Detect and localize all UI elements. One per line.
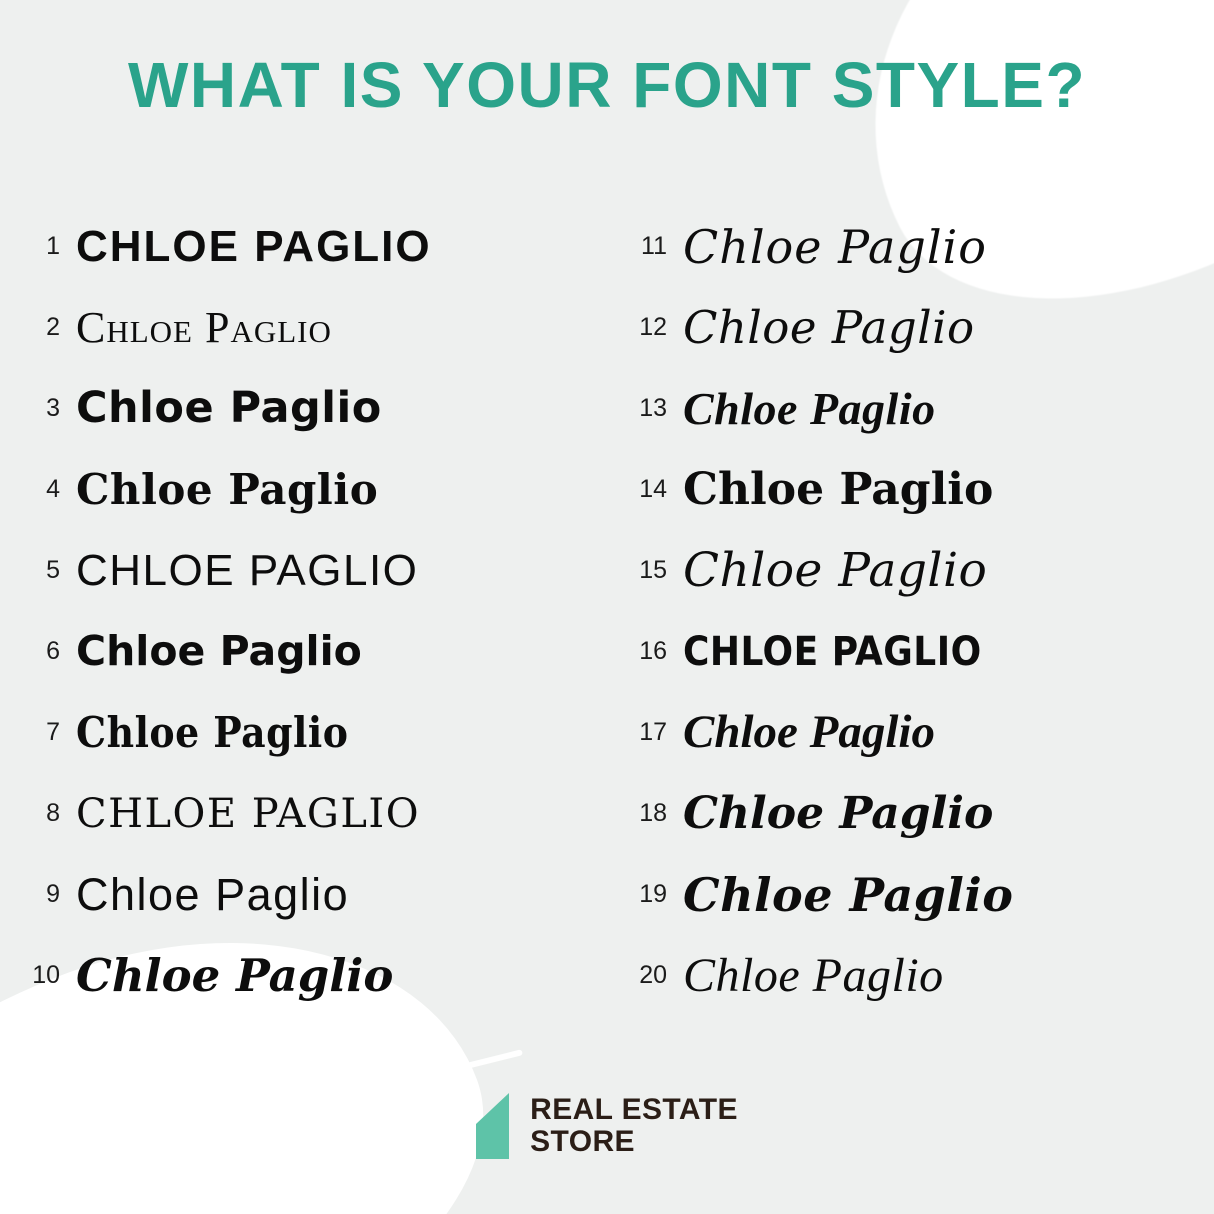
font-style-sample: Chloe Paglio [683,468,1214,512]
font-style-row[interactable]: 15 Chloe Paglio [607,530,1214,611]
font-style-number: 15 [607,558,683,583]
font-style-number: 16 [607,639,683,664]
font-style-sample: Chloe Paglio [76,469,607,511]
font-style-sample: Chloe Paglio [76,387,607,430]
font-style-number: 8 [0,801,76,826]
font-style-row[interactable]: 18 Chloe Paglio [607,773,1214,854]
poster-canvas: WHAT IS YOUR FONT STYLE? 1 CHLOE PAGLIO … [0,0,1214,1214]
font-style-row[interactable]: 2 Chloe Paglio [0,287,607,368]
brand-logo-line-1: REAL ESTATE [530,1094,738,1126]
brand-logo-line-2: STORE [530,1126,738,1158]
font-style-sample: CHLOE PAGLIO [76,225,607,269]
font-style-row[interactable]: 20 Chloe Paglio [607,935,1214,1016]
font-style-row[interactable]: 4 Chloe Paglio [0,449,607,530]
font-style-sample: Chloe Paglio [683,386,1214,432]
font-style-column-left: 1 CHLOE PAGLIO 2 Chloe Paglio 3 Chloe Pa… [0,206,607,1016]
font-style-sample: Chloe Paglio [76,631,607,672]
font-style-number: 5 [0,558,76,583]
font-style-sample: Chloe Paglio [76,872,607,917]
font-style-row[interactable]: 17 Chloe Paglio [607,692,1214,773]
font-style-number: 9 [0,882,76,907]
font-style-row[interactable]: 8 CHLOE PAGLIO [0,773,607,854]
font-style-sample: Chloe Paglio [683,547,1214,594]
font-style-number: 20 [607,963,683,988]
font-style-row[interactable]: 7 Chloe Paglio [0,692,607,773]
poster-title: WHAT IS YOUR FONT STYLE? [0,48,1214,122]
font-style-sample: Chloe Paglio [683,872,1214,918]
font-style-number: 12 [607,315,683,340]
font-style-row[interactable]: 5 CHLOE PAGLIO [0,530,607,611]
font-style-sample: Chloe Paglio [683,224,1214,270]
font-style-sample: CHLOE PAGLIO [76,549,607,593]
font-style-sample: Chloe Paglio [76,953,607,998]
font-style-row[interactable]: 16 CHLOE PAGLIO [607,611,1214,692]
font-style-number: 6 [0,639,76,664]
font-style-row[interactable]: 9 Chloe Paglio [0,854,607,935]
font-style-number: 4 [0,477,76,502]
font-style-column-right: 11 Chloe Paglio 12 Chloe Paglio 13 Chloe… [607,206,1214,1016]
font-style-number: 13 [607,396,683,421]
font-style-number: 3 [0,396,76,421]
brand-logo-text: REAL ESTATE STORE [530,1094,738,1159]
font-style-list: 1 CHLOE PAGLIO 2 Chloe Paglio 3 Chloe Pa… [0,206,1214,1016]
font-style-row[interactable]: 10 Chloe Paglio [0,935,607,1016]
font-style-sample: Chloe Paglio [76,712,607,754]
font-style-number: 14 [607,477,683,502]
font-style-number: 18 [607,801,683,826]
font-style-sample: Chloe Paglio [683,792,1214,836]
font-style-row[interactable]: 3 Chloe Paglio [0,368,607,449]
font-style-row[interactable]: 6 Chloe Paglio [0,611,607,692]
font-style-sample: Chloe Paglio [683,305,1214,350]
font-style-number: 17 [607,720,683,745]
font-style-row[interactable]: 19 Chloe Paglio [607,854,1214,935]
font-style-row[interactable]: 11 Chloe Paglio [607,206,1214,287]
font-style-number: 7 [0,720,76,745]
font-style-row[interactable]: 12 Chloe Paglio [607,287,1214,368]
font-style-sample: CHLOE PAGLIO [683,632,1214,672]
font-style-sample: Chloe Paglio [76,306,607,350]
font-style-number: 1 [0,234,76,259]
font-style-row[interactable]: 14 Chloe Paglio [607,449,1214,530]
font-style-number: 11 [607,234,683,259]
font-style-row[interactable]: 1 CHLOE PAGLIO [0,206,607,287]
font-style-number: 10 [0,963,76,988]
font-style-sample: Chloe Paglio [683,952,1214,1000]
font-style-row[interactable]: 13 Chloe Paglio [607,368,1214,449]
font-style-number: 2 [0,315,76,340]
font-style-sample: CHLOE PAGLIO [76,794,607,834]
brand-logo: REAL ESTATE STORE [0,1093,1214,1159]
font-style-number: 19 [607,882,683,907]
house-icon [476,1093,518,1159]
font-style-sample: Chloe Paglio [683,709,1214,756]
